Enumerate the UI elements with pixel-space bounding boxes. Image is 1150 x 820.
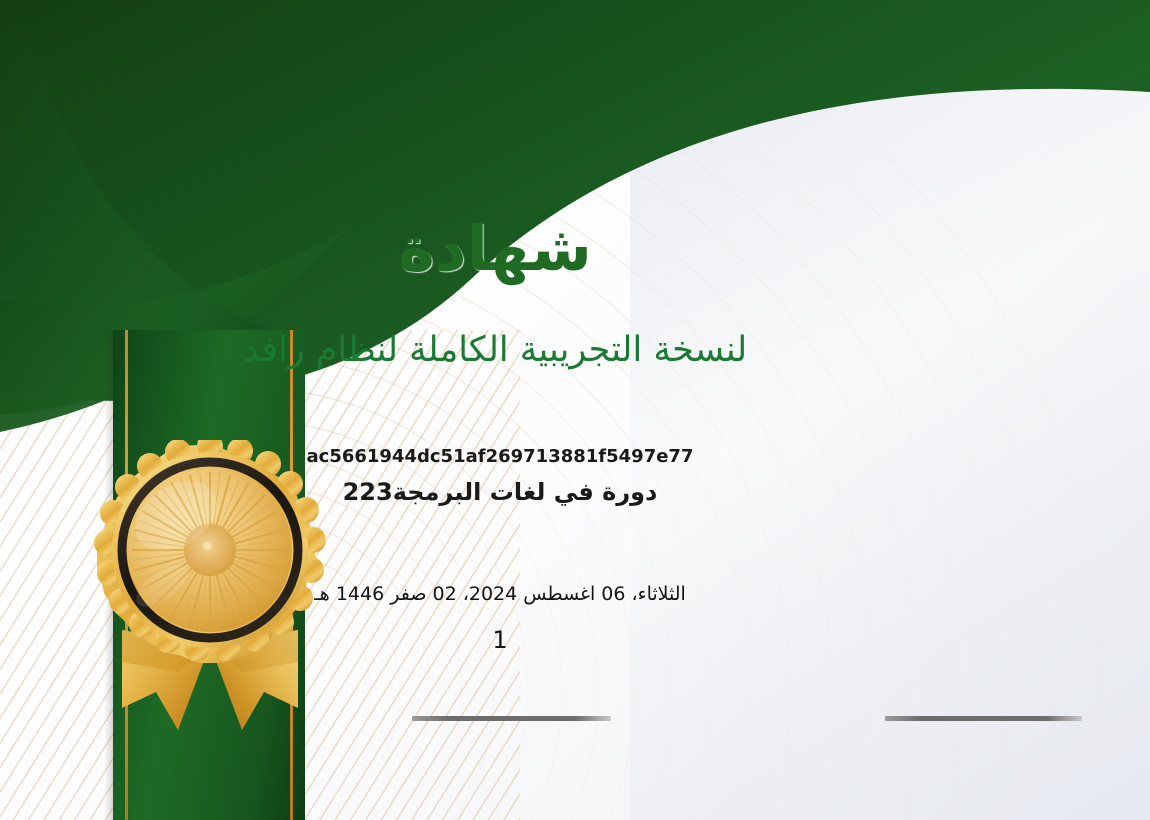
page-title: شهادة: [0, 212, 1150, 285]
signature-line-left: [412, 716, 611, 721]
right-gradient-sheen: [630, 0, 1150, 820]
certificate-page: شهادة لنسخة التجريبية الكاملة لنظام رافد…: [0, 0, 1150, 820]
signature-line-right: [885, 716, 1082, 721]
gold-medal-icon: [60, 440, 360, 780]
